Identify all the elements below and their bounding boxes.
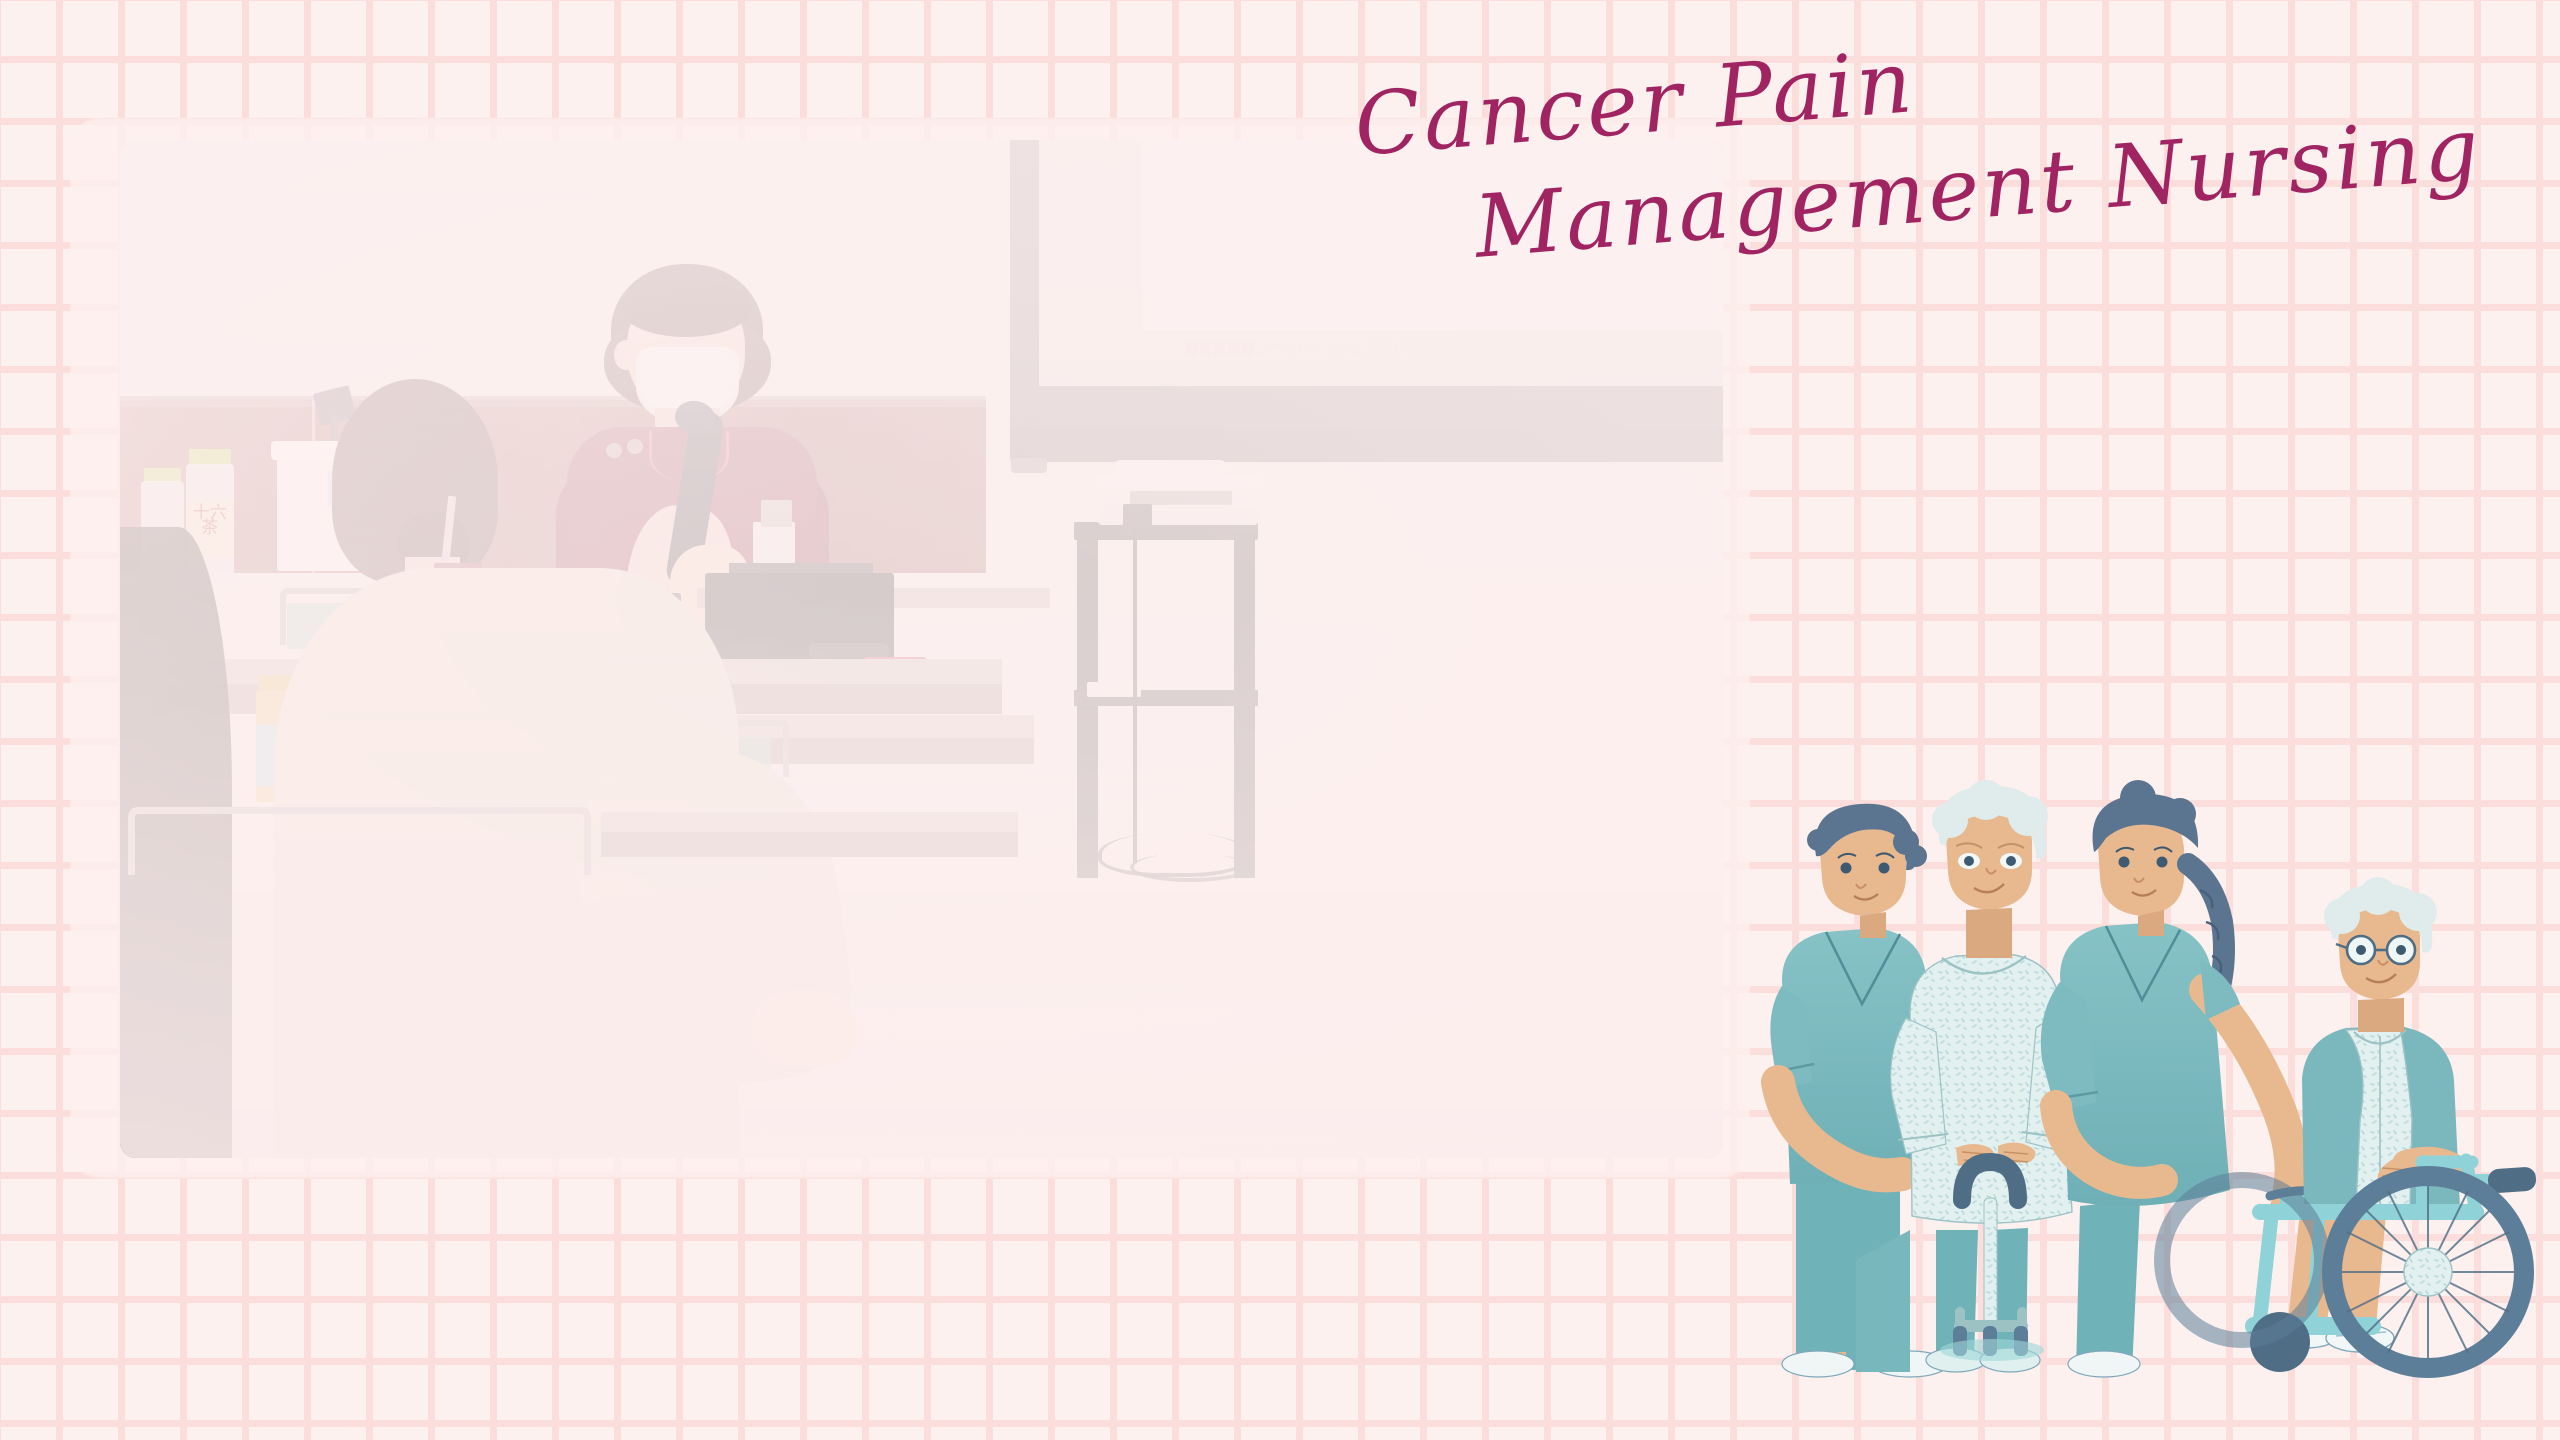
seminar-photo: コアカリキュラム 2024 [120,140,1723,1158]
nursing-illustration [1760,760,2560,1380]
photo-pink-overlay [120,140,1723,1158]
photo-scene: コアカリキュラム 2024 [120,140,1723,1158]
